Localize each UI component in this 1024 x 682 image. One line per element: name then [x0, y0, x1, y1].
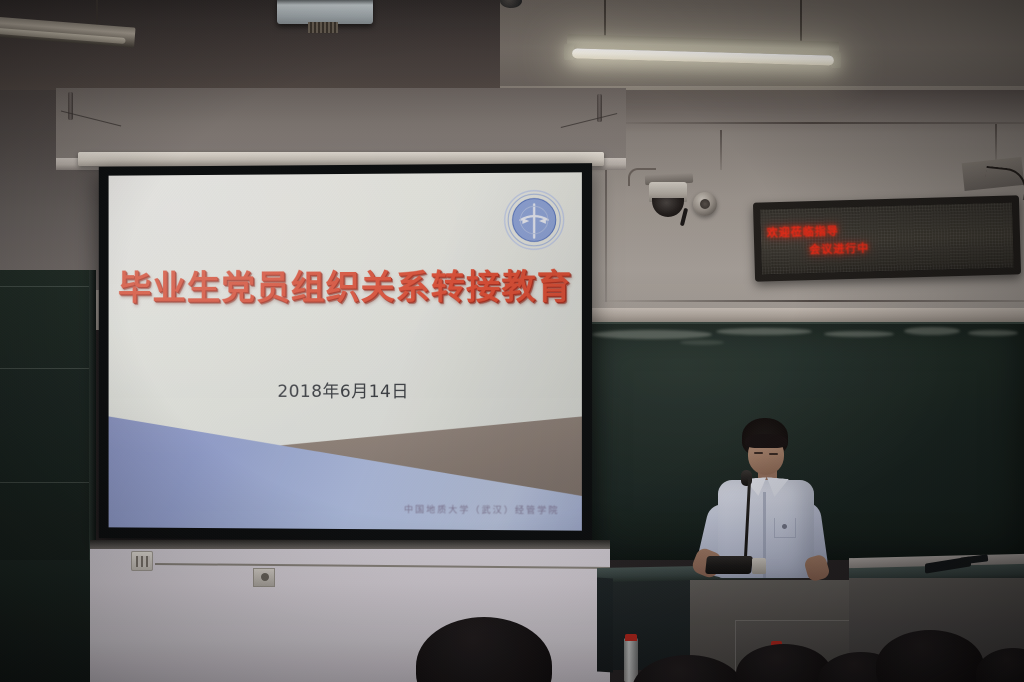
desk-side-left	[597, 577, 613, 672]
screen-bottom-ledge	[90, 540, 610, 549]
presenter	[690, 418, 830, 578]
lamp-rod-c	[800, 0, 802, 42]
projection-screen[interactable]: 毕业生党员组织关系转接教育 2018年6月14日 中国地质大学（武汉）经管学院	[99, 163, 592, 542]
led-text-line-2: 会议进行中	[809, 240, 869, 258]
slide-surface: 毕业生党员组织关系转接教育 2018年6月14日 中国地质大学（武汉）经管学院	[109, 172, 582, 530]
presenter-fringe	[745, 434, 787, 448]
wall-cable-bracket	[253, 568, 275, 587]
presenter-eyebrow-left	[754, 452, 763, 454]
microphone-base-knob[interactable]	[752, 558, 766, 574]
wall-conduit-h1	[600, 122, 1024, 124]
ceiling-projector	[277, 0, 373, 24]
presenter-pocket-item	[782, 524, 787, 529]
screen-hook-left	[68, 92, 73, 120]
bottle-cap-left	[625, 634, 637, 641]
wall-conduit-v2	[720, 130, 722, 170]
projector-vent	[308, 22, 338, 33]
wall-power-outlet[interactable]	[131, 551, 153, 571]
lamp-rod-a	[96, 0, 98, 26]
wall-conduit-h2	[600, 300, 1024, 302]
led-text-line-1: 欢迎莅临指导	[767, 222, 839, 240]
university-seal-icon	[503, 189, 566, 252]
led-notice-board[interactable]: 欢迎莅临指导 会议进行中	[753, 195, 1021, 281]
wall-conduit-v3	[995, 124, 997, 160]
wall-speaker-icon	[693, 192, 717, 216]
slide-title: 毕业生党员组织关系转接教育	[109, 259, 582, 309]
presenter-eyebrow-right	[769, 453, 778, 455]
lamp-rod-b	[604, 0, 606, 40]
lecture-hall-photo: 欢迎莅临指导 会议进行中	[0, 0, 1024, 682]
slide-footer-institution: 中国地质大学（武汉）经管学院	[404, 502, 559, 516]
slide-date: 2018年6月14日	[109, 377, 582, 403]
microphone-base[interactable]	[705, 556, 753, 574]
